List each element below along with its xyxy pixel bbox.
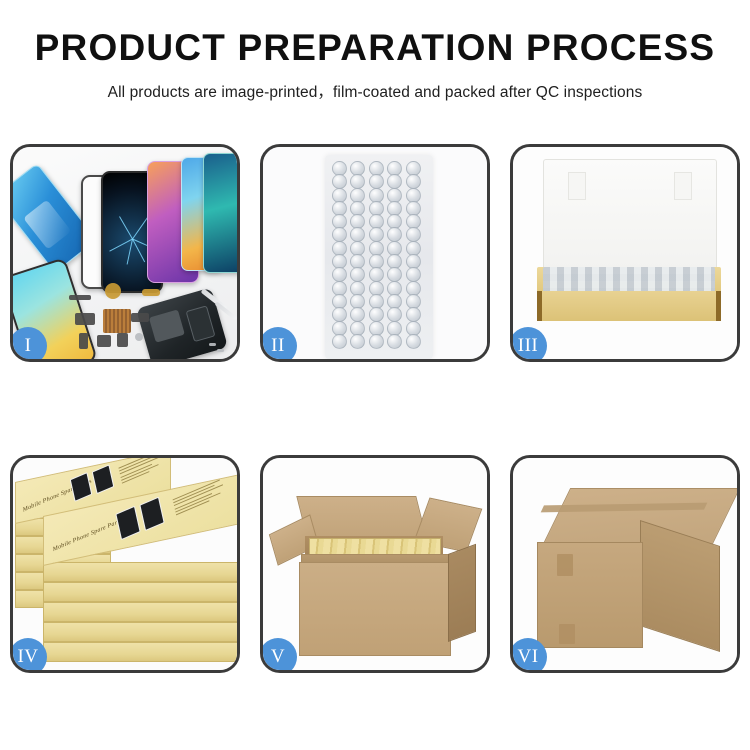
box-lid-white [543, 159, 717, 273]
process-step-4: Mobile Phone Spare Parts Mobile Phone Sp… [10, 455, 240, 673]
lid-tab-left [568, 172, 586, 200]
box-phone-graphic [92, 464, 115, 494]
step-6-image: VI [513, 458, 737, 670]
stacked-box-edge [43, 602, 237, 622]
part-screw-small-1 [209, 343, 216, 346]
stacked-box-edge [43, 642, 237, 662]
part-flex-strip [69, 295, 91, 300]
page-title: PRODUCT PREPARATION PROCESS [0, 28, 750, 69]
part-copper-shield [103, 309, 131, 333]
process-step-grid: I [10, 144, 740, 673]
stacked-box-edge [43, 562, 237, 582]
phone-display-teal [203, 153, 237, 273]
box-spec-lines [118, 458, 165, 486]
part-screw [135, 333, 143, 341]
part-sim-tray [79, 333, 88, 349]
part-button-flex [131, 313, 149, 322]
carton-body-side [448, 544, 476, 642]
part-screw-small-2 [217, 349, 224, 352]
part-camera-module [75, 313, 95, 325]
printed-box-stack: Mobile Phone Spare Parts Mobile Phone Sp… [13, 458, 237, 670]
part-speaker-gold [105, 283, 121, 299]
header: PRODUCT PREPARATION PROCESS All products… [0, 0, 750, 102]
step-4-image: Mobile Phone Spare Parts Mobile Phone Sp… [13, 458, 237, 670]
process-step-1: I [10, 144, 240, 362]
stacked-box-edge [43, 622, 237, 642]
kraft-box-front [537, 291, 721, 321]
box-phone-graphic [139, 497, 164, 531]
page-subtitle: All products are image-printed，film-coat… [0, 80, 750, 102]
step-2-image: II [263, 147, 487, 359]
part-connector-gold [142, 289, 160, 296]
tape-tab-lower [559, 624, 575, 644]
process-step-6: VI [510, 455, 740, 673]
box-spec-lines [173, 476, 232, 517]
step-3-image: III [513, 147, 737, 359]
box-brand-label: Mobile Phone Spare Parts [52, 517, 122, 553]
process-step-5: V [260, 455, 490, 673]
part-vibrator [97, 335, 111, 347]
bubble-wrap-pouch [325, 155, 433, 359]
carton-body-front [299, 562, 451, 656]
product-preparation-infographic: PRODUCT PREPARATION PROCESS All products… [0, 0, 750, 750]
process-step-3: III [510, 144, 740, 362]
step-badge-5: V [263, 638, 297, 670]
lid-tab-right [674, 172, 692, 200]
bubble-grid [333, 161, 425, 353]
part-sensor [117, 333, 128, 347]
step-1-image: I [13, 147, 237, 359]
step-badge-3: III [513, 327, 547, 359]
process-step-2: II [260, 144, 490, 362]
sealed-carton-front [537, 542, 643, 648]
tape-tab-upper [557, 554, 573, 576]
step-5-image: V [263, 458, 487, 670]
step-badge-2: II [263, 327, 297, 359]
box-phone-graphic [70, 472, 93, 502]
box-phone-graphic [115, 506, 140, 540]
stacked-box-edge [43, 582, 237, 602]
